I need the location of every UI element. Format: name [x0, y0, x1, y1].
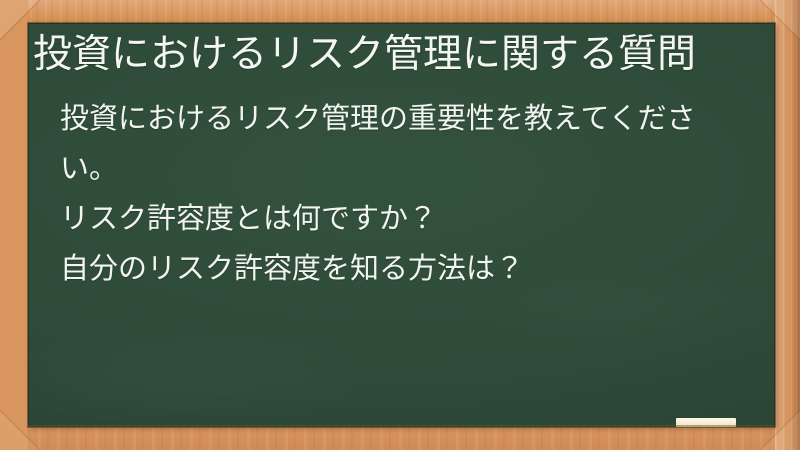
chalkboard-slide: 投資におけるリスク管理に関する質問 投資におけるリスク管理の重要性を教えてくださ…	[0, 0, 800, 450]
chalkboard-surface: 投資におけるリスク管理に関する質問 投資におけるリスク管理の重要性を教えてくださ…	[28, 23, 775, 427]
slide-title: 投資におけるリスク管理に関する質問	[33, 31, 753, 79]
list-item: 投資におけるリスク管理の重要性を教えてください。	[33, 93, 745, 193]
board-bottom-edge	[28, 425, 775, 427]
frame-left-board	[0, 0, 28, 450]
frame-bottom-board	[0, 427, 800, 450]
list-item: リスク許容度とは何ですか？	[33, 193, 745, 243]
list-item: 自分のリスク許容度を知る方法は？	[33, 243, 745, 293]
frame-right-board	[775, 0, 800, 450]
question-list: 投資におけるリスク管理の重要性を教えてください。 リスク許容度とは何ですか？ 自…	[33, 93, 745, 293]
frame-top-board	[0, 0, 800, 23]
